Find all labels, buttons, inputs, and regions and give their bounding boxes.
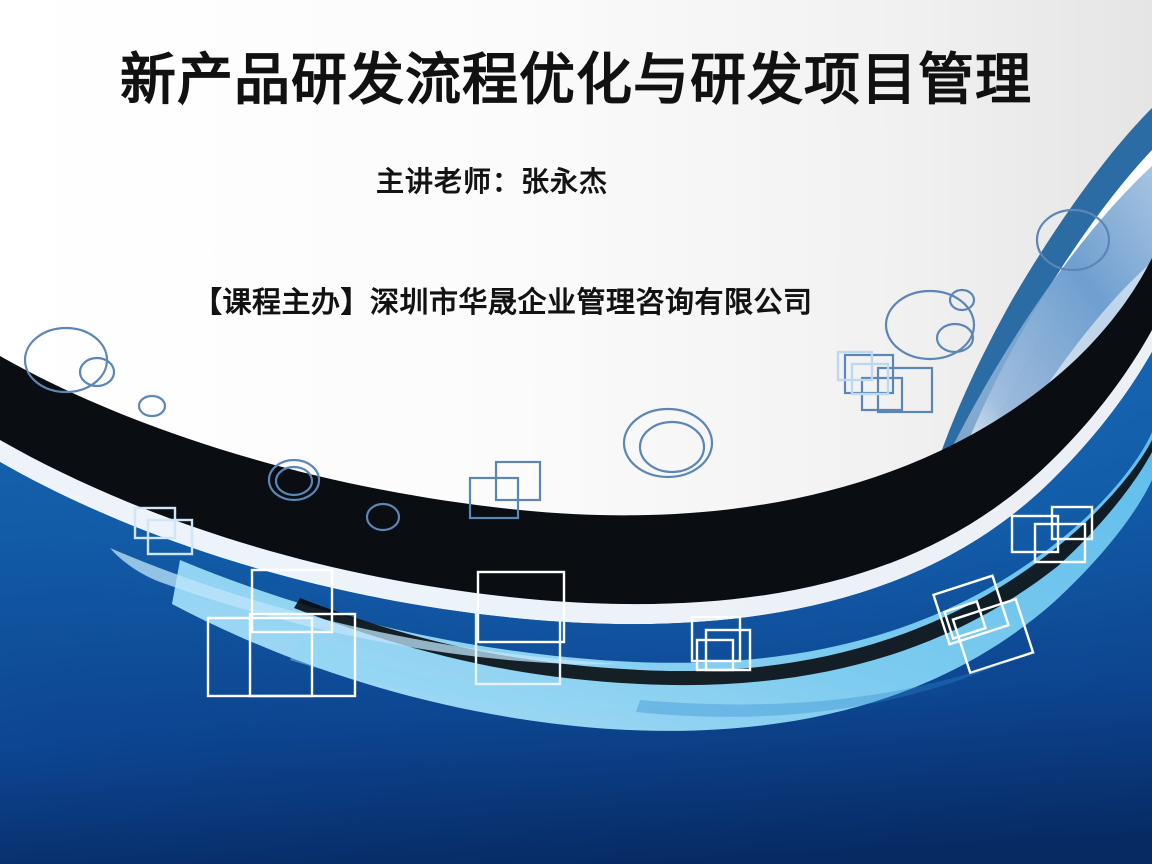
presenter-label: 主讲老师：张永杰 (376, 160, 608, 200)
slide-title: 新产品研发流程优化与研发项目管理 (0, 48, 1152, 112)
organizer-label: 【课程主办】深圳市华晟企业管理咨询有限公司 (193, 279, 813, 321)
presentation-slide: 新产品研发流程优化与研发项目管理 主讲老师：张永杰 【课程主办】深圳市华晟企业管… (0, 0, 1152, 864)
slide-text-layer: 新产品研发流程优化与研发项目管理 主讲老师：张永杰 【课程主办】深圳市华晟企业管… (0, 0, 1152, 864)
